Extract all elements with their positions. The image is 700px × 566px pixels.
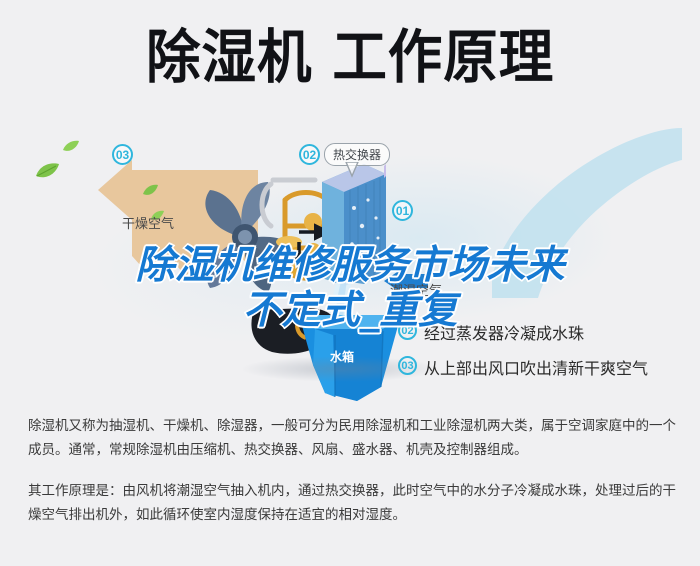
bullet-badge-02: 02 bbox=[398, 321, 417, 340]
paragraph-2: 其工作原理是：由风机将潮湿空气抽入机内，通过热交换器，此时空气中的水分子冷凝成水… bbox=[28, 479, 676, 527]
dehumidifier-diagram: 03 干燥空气 02 热交换器 01 潮湿空气 水箱 02 经过蒸发器冷凝成水珠… bbox=[0, 118, 700, 398]
callout-label-humid-air: 潮湿空气 bbox=[390, 280, 442, 299]
bullet-text-02: 经过蒸发器冷凝成水珠 bbox=[424, 320, 584, 344]
callout-badge-02: 02 bbox=[299, 144, 320, 165]
infographic-page: 除湿机 工作原理 bbox=[0, 0, 700, 566]
leaf-icon bbox=[62, 140, 80, 153]
leaf-icon bbox=[34, 162, 60, 180]
callout-badge-01: 01 bbox=[392, 200, 413, 221]
page-title: 除湿机 工作原理 bbox=[146, 28, 554, 86]
leaf-icon bbox=[142, 184, 159, 197]
callout-badge-03: 03 bbox=[112, 144, 133, 165]
bullet-badge-03: 03 bbox=[398, 356, 417, 375]
callout-label-dry-air: 干燥空气 bbox=[122, 213, 174, 232]
body-copy: 除湿机又称为抽湿机、干燥机、除湿器，一般可分为民用除湿机和工业除湿机两大类，属于… bbox=[28, 414, 676, 530]
bullet-text-03: 从上部出风口吹出清新干爽空气 bbox=[424, 355, 648, 379]
page-title-container: 除湿机 工作原理 bbox=[0, 28, 700, 86]
paragraph-1: 除湿机又称为抽湿机、干燥机、除湿器，一般可分为民用除湿机和工业除湿机两大类，属于… bbox=[28, 414, 676, 462]
bubble-tail-icon bbox=[344, 162, 360, 178]
tank-label: 水箱 bbox=[330, 348, 354, 365]
